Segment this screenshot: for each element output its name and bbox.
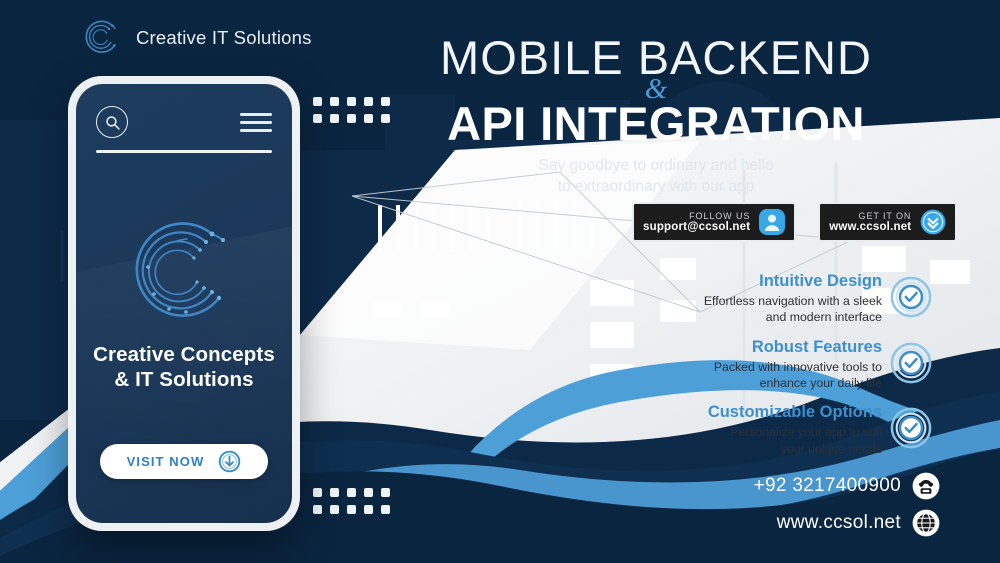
hamburger-menu-icon[interactable] bbox=[240, 113, 272, 132]
feature-item: Customizable Options Personalize your ap… bbox=[632, 403, 932, 457]
get-it-on-small-label: GET IT ON bbox=[829, 211, 911, 221]
visit-now-label: VISIT NOW bbox=[127, 454, 205, 469]
phone-headline: Creative Concepts & IT Solutions bbox=[90, 342, 278, 393]
get-it-on-badge[interactable]: GET IT ON www.ccsol.net bbox=[818, 202, 957, 242]
tagline: Say goodbye to ordinary and hello to ext… bbox=[336, 156, 976, 198]
feature-description: Personalize your app to suit your unique… bbox=[632, 424, 882, 457]
feature-desc-line1: Effortless navigation with a sleek bbox=[632, 293, 882, 309]
follow-us-badge[interactable]: FOLLOW US support@ccsol.net bbox=[632, 202, 796, 242]
feature-item: Intuitive Design Effortless navigation w… bbox=[632, 272, 932, 326]
feature-description: Effortless navigation with a sleek and m… bbox=[632, 293, 882, 326]
search-icon[interactable] bbox=[96, 106, 128, 138]
contact-website-row[interactable]: www.ccsol.net bbox=[754, 509, 940, 537]
phone-mockup: Creative Concepts & IT Solutions VISIT N… bbox=[68, 76, 300, 531]
follow-us-small-label: FOLLOW US bbox=[643, 211, 750, 221]
get-it-on-website: www.ccsol.net bbox=[829, 221, 911, 234]
phone-divider bbox=[96, 150, 272, 153]
circular-tech-logo-icon bbox=[124, 212, 244, 332]
dot-grid-bottom bbox=[313, 488, 390, 514]
phone-screen: Creative Concepts & IT Solutions VISIT N… bbox=[76, 84, 292, 523]
headline-block: MOBILE BACKEND & API INTEGRATION Say goo… bbox=[336, 34, 976, 198]
promo-banner: Creative IT Solutions bbox=[0, 0, 1000, 563]
visit-now-button[interactable]: VISIT NOW bbox=[100, 444, 268, 479]
check-circle-icon bbox=[890, 407, 932, 449]
feature-item: Robust Features Packed with innovative t… bbox=[632, 338, 932, 392]
tagline-line1: Say goodbye to ordinary and hello bbox=[336, 156, 976, 177]
phone-headline-line2: & IT Solutions bbox=[90, 367, 278, 392]
telephone-icon bbox=[912, 472, 940, 500]
feature-list: Intuitive Design Effortless navigation w… bbox=[632, 272, 932, 469]
feature-title: Customizable Options bbox=[632, 403, 882, 422]
contact-block: +92 3217400900 www.ccsol.net bbox=[754, 463, 940, 537]
feature-desc-line1: Packed with innovative tools to bbox=[632, 359, 882, 375]
headline-line2: API INTEGRATION bbox=[336, 100, 976, 149]
phone-headline-line1: Creative Concepts bbox=[90, 342, 278, 367]
tagline-line2: to extraordinary with our app bbox=[336, 177, 976, 198]
user-avatar-icon bbox=[759, 209, 785, 235]
download-arrow-icon bbox=[218, 450, 241, 473]
circular-tech-logo-icon bbox=[80, 16, 124, 60]
follow-us-email: support@ccsol.net bbox=[643, 221, 750, 234]
feature-desc-line1: Personalize your app to suit bbox=[632, 424, 882, 440]
contact-phone-value: +92 3217400900 bbox=[754, 475, 901, 497]
check-circle-icon bbox=[890, 276, 932, 318]
feature-title: Intuitive Design bbox=[632, 272, 882, 291]
feature-description: Packed with innovative tools to enhance … bbox=[632, 359, 882, 392]
globe-icon bbox=[912, 509, 940, 537]
contact-phone-row[interactable]: +92 3217400900 bbox=[754, 472, 940, 500]
phone-topbar bbox=[76, 106, 292, 138]
feature-desc-line2: and modern interface bbox=[632, 309, 882, 325]
check-circle-icon bbox=[890, 342, 932, 384]
brand-lockup[interactable]: Creative IT Solutions bbox=[80, 16, 312, 60]
contact-website-value: www.ccsol.net bbox=[777, 512, 901, 534]
badge-row: FOLLOW US support@ccsol.net GET IT ON ww… bbox=[632, 202, 957, 242]
double-chevron-down-icon bbox=[920, 209, 946, 235]
feature-desc-line2: your unique needs bbox=[632, 441, 882, 457]
brand-name: Creative IT Solutions bbox=[136, 27, 312, 49]
feature-title: Robust Features bbox=[632, 338, 882, 357]
feature-desc-line2: enhance your daily life bbox=[632, 375, 882, 391]
